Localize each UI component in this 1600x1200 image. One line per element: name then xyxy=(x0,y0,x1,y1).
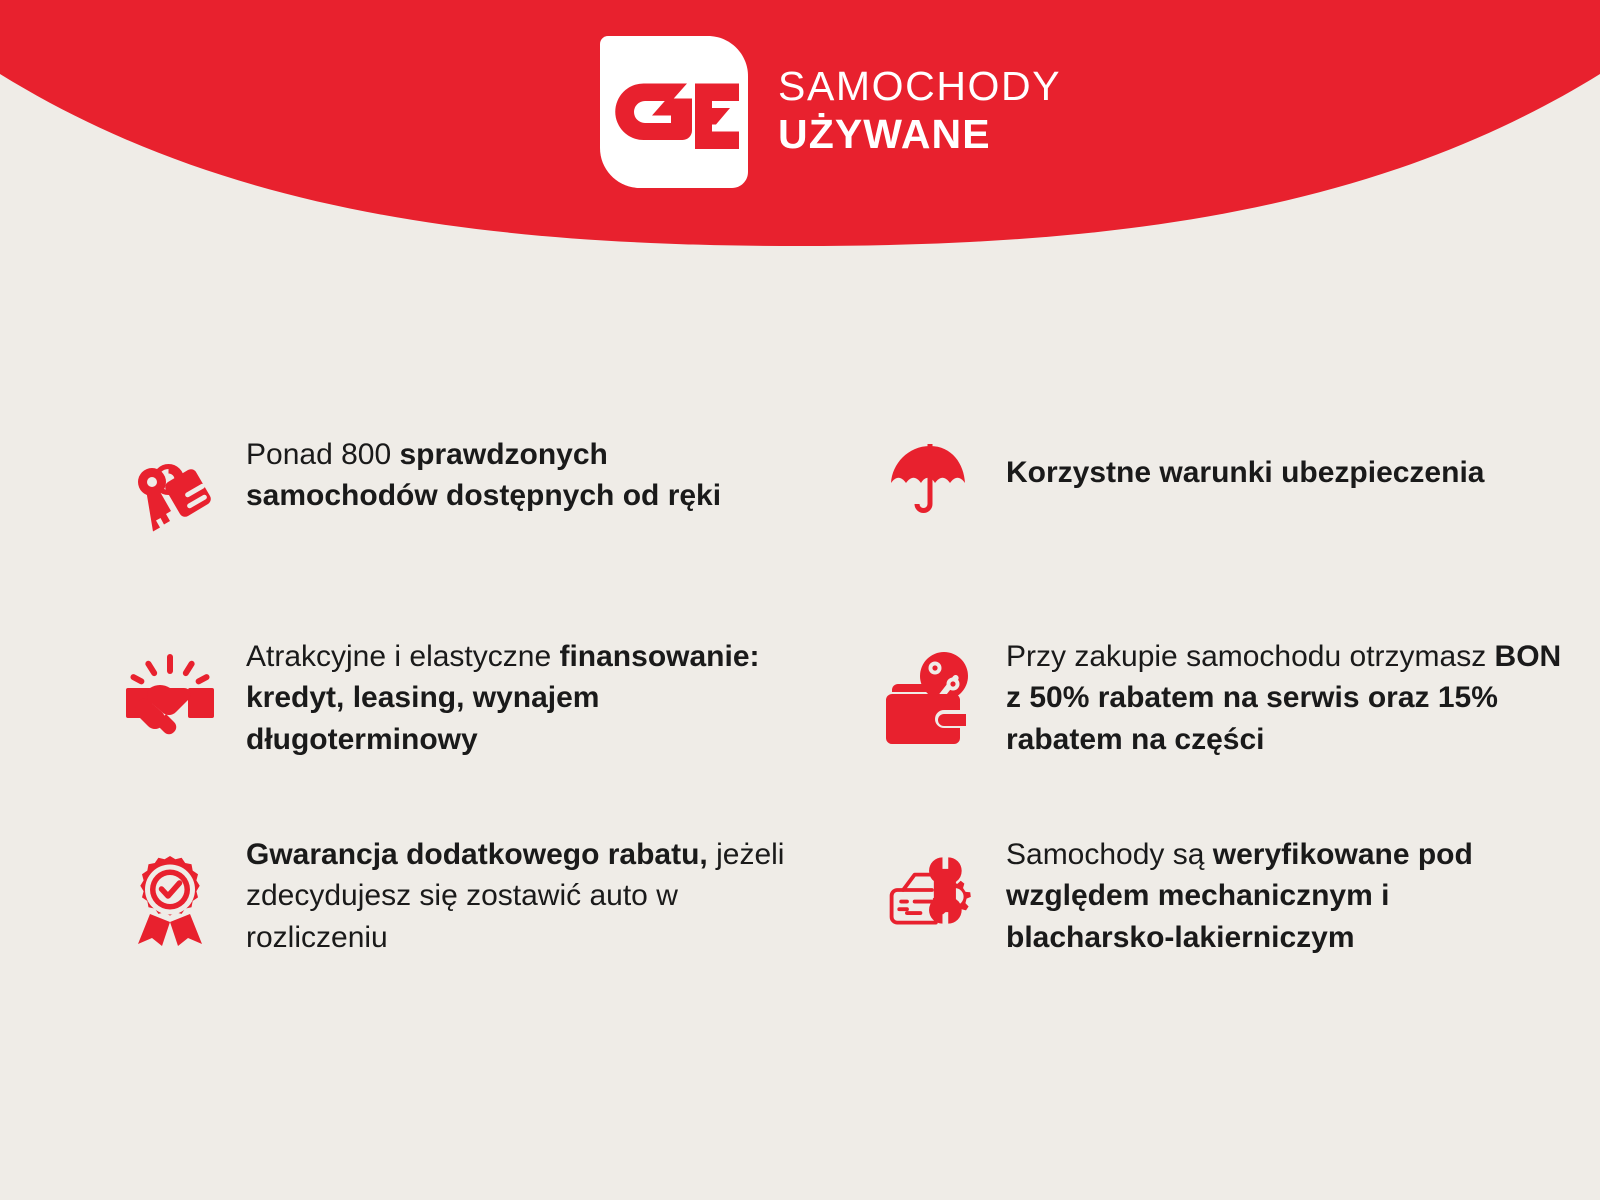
benefit-item-trade-in-discount: Gwarancja dodatkowego rabatu, jeżeli zde… xyxy=(122,790,842,970)
brand-logo-lockup[interactable]: SAMOCHODY UŻYWANE xyxy=(600,36,1061,188)
brand-line-uzywane: UŻYWANE xyxy=(778,114,1061,155)
benefit-lead: Samochody są xyxy=(1006,838,1213,871)
gb-logo-mark[interactable] xyxy=(600,36,748,188)
wallet-percent-icon xyxy=(882,648,978,744)
brand-wordmark: SAMOCHODY UŻYWANE xyxy=(778,66,1061,159)
benefit-text: Ponad 800 sprawdzonych samochodów dostęp… xyxy=(246,430,806,517)
benefit-lead: Atrakcyjne i elastyczne xyxy=(246,640,559,673)
benefit-item-financing: Atrakcyjne i elastyczne finansowanie: kr… xyxy=(122,610,842,790)
benefit-strong: Korzystne warunki ubezpieczenia xyxy=(1006,456,1484,489)
brand-line-samochody: SAMOCHODY xyxy=(778,66,1061,107)
gb-logo-icon xyxy=(600,36,748,188)
umbrella-icon xyxy=(882,434,978,530)
benefit-item-inspection: Samochody są weryfikowane pod względem m… xyxy=(882,790,1600,970)
benefit-item-cars-available: Ponad 800 sprawdzonych samochodów dostęp… xyxy=(122,430,842,610)
benefit-text: Korzystne warunki ubezpieczenia xyxy=(1006,430,1484,493)
benefit-text: Samochody są weryfikowane pod względem m… xyxy=(1006,830,1566,958)
benefit-lead: Ponad 800 xyxy=(246,438,399,471)
benefit-item-insurance: Korzystne warunki ubezpieczenia xyxy=(882,430,1600,610)
benefit-strong: Gwarancja dodatkowego rabatu, xyxy=(246,838,708,871)
award-badge-check-icon xyxy=(122,852,218,948)
handshake-icon xyxy=(122,648,218,744)
benefit-item-voucher: Przy zakupie samochodu otrzymasz BON z 5… xyxy=(882,610,1600,790)
benefit-text: Przy zakupie samochodu otrzymasz BON z 5… xyxy=(1006,632,1566,760)
benefits-grid: Ponad 800 sprawdzonych samochodów dostęp… xyxy=(0,430,1600,970)
car-key-fob-icon xyxy=(122,446,218,542)
benefit-text: Gwarancja dodatkowego rabatu, jeżeli zde… xyxy=(246,830,806,958)
car-wrench-gear-icon xyxy=(882,842,978,938)
benefit-lead: Przy zakupie samochodu otrzymasz xyxy=(1006,640,1495,673)
benefit-text: Atrakcyjne i elastyczne finansowanie: kr… xyxy=(246,632,806,760)
